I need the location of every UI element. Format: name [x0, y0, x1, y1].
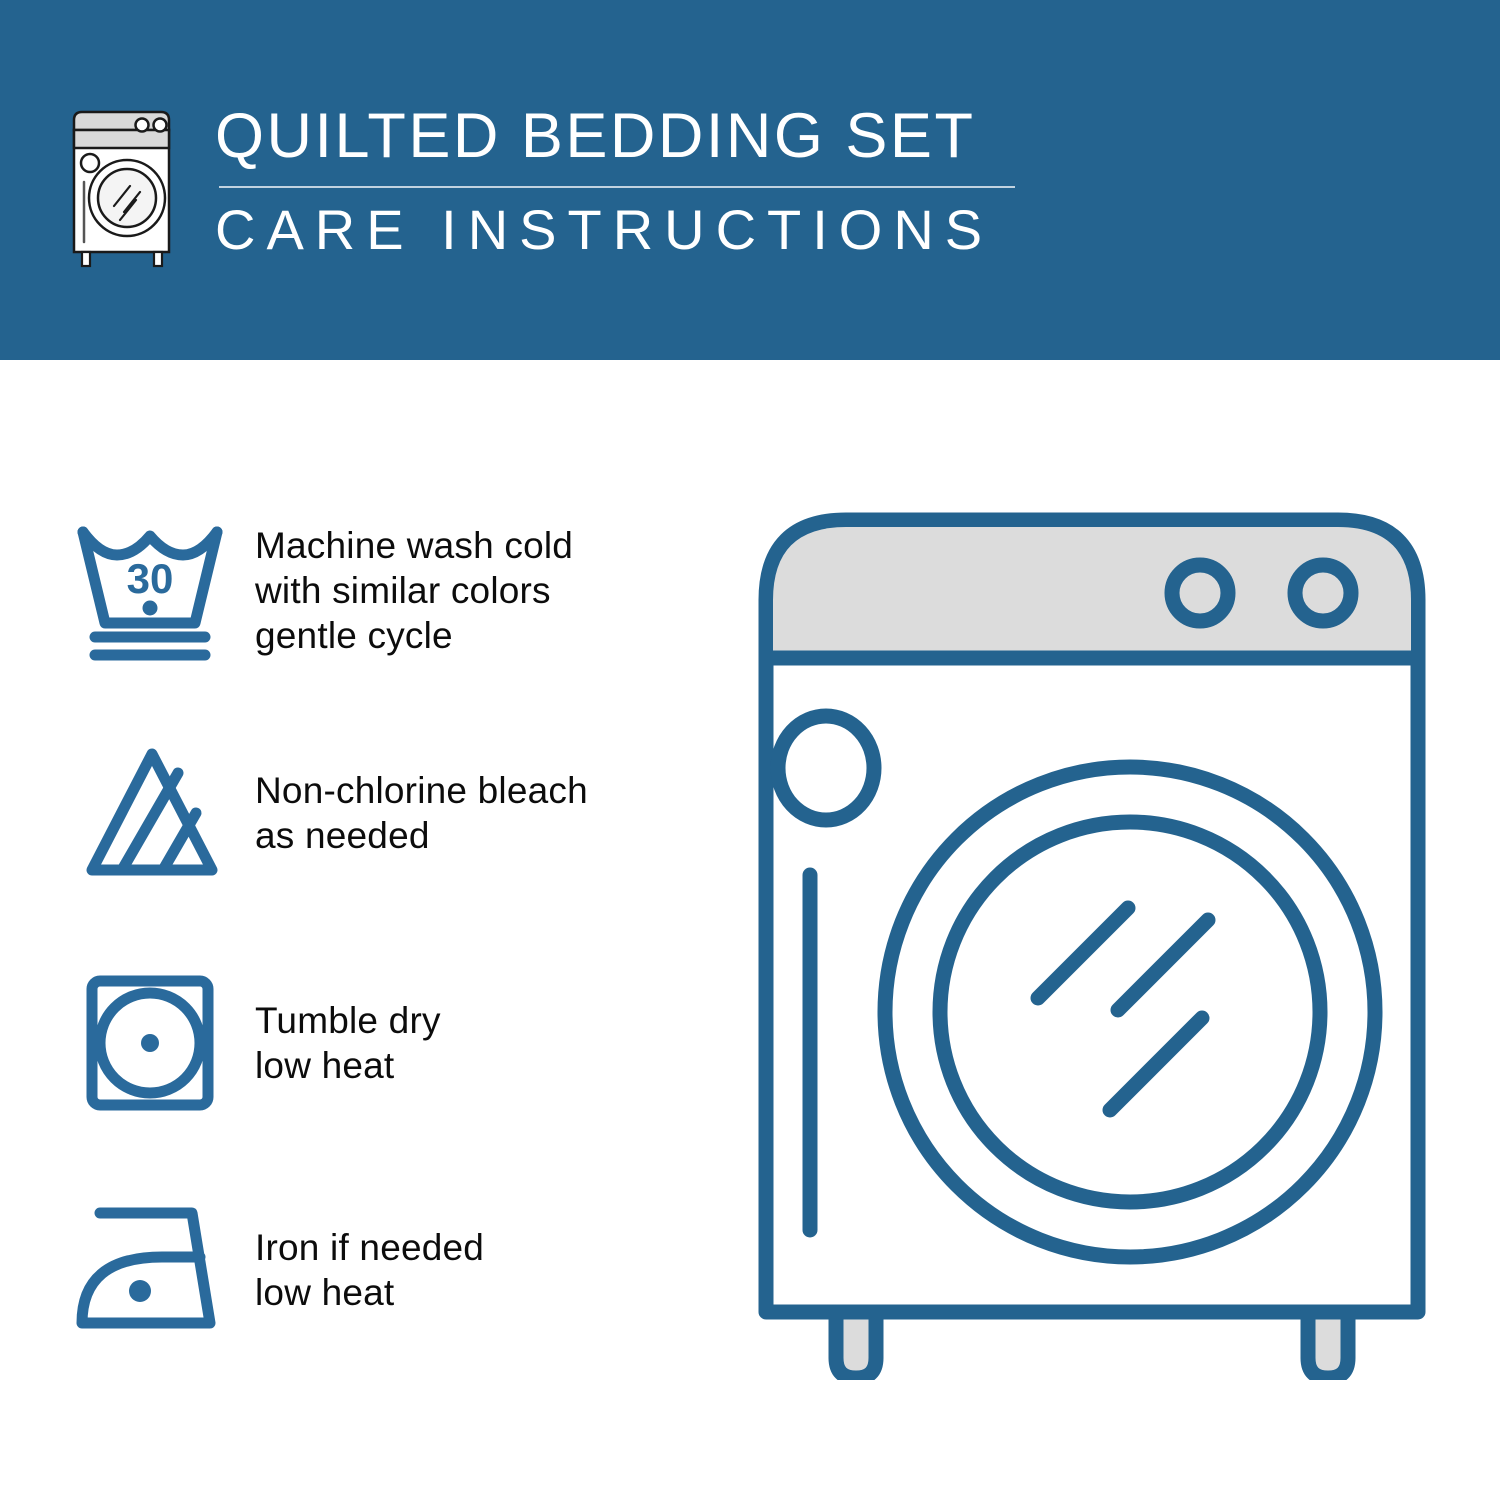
washing-machine-illustration [740, 480, 1460, 1380]
washing-machine-icon [62, 100, 192, 270]
wash-tub-icon: 30 [70, 515, 235, 665]
iron-icon [70, 1195, 235, 1345]
care-row-machine-wash: 30 Machine wash cold with similar colors… [70, 515, 720, 665]
title-divider [219, 186, 1015, 188]
header-text-block: QUILTED BEDDING SET CARE INSTRUCTIONS [215, 100, 1215, 262]
washer-leg-right [1308, 1312, 1348, 1378]
control-panel [773, 527, 1411, 658]
care-label-bleach: Non-chlorine bleach as needed [255, 768, 588, 858]
page-header: QUILTED BEDDING SET CARE INSTRUCTIONS [0, 0, 1500, 360]
care-label-tumble-dry: Tumble dry low heat [255, 998, 441, 1088]
page-title: QUILTED BEDDING SET [215, 100, 1215, 172]
care-row-iron: Iron if needed low heat [70, 1195, 720, 1345]
tumble-dry-icon [70, 968, 235, 1118]
care-label-line: with similar colors [255, 568, 573, 613]
care-label-line: Non-chlorine bleach [255, 768, 588, 813]
page-subtitle: CARE INSTRUCTIONS [215, 198, 1215, 262]
care-row-tumble-dry: Tumble dry low heat [70, 968, 720, 1118]
care-instructions-list: 30 Machine wash cold with similar colors… [0, 360, 740, 1500]
care-label-line: Machine wash cold [255, 523, 573, 568]
care-label-iron: Iron if needed low heat [255, 1225, 484, 1315]
care-row-bleach: Non-chlorine bleach as needed [70, 738, 720, 888]
care-label-machine-wash: Machine wash cold with similar colors ge… [255, 523, 573, 658]
care-label-line: Tumble dry [255, 998, 441, 1043]
washer-leg-left [836, 1312, 876, 1378]
care-label-line: gentle cycle [255, 613, 573, 658]
care-label-line: as needed [255, 813, 588, 858]
bleach-triangle-icon [70, 738, 235, 888]
wash-temperature-label: 30 [127, 555, 174, 602]
care-label-line: Iron if needed [255, 1225, 484, 1270]
care-label-line: low heat [255, 1270, 484, 1315]
care-label-line: low heat [255, 1043, 441, 1088]
